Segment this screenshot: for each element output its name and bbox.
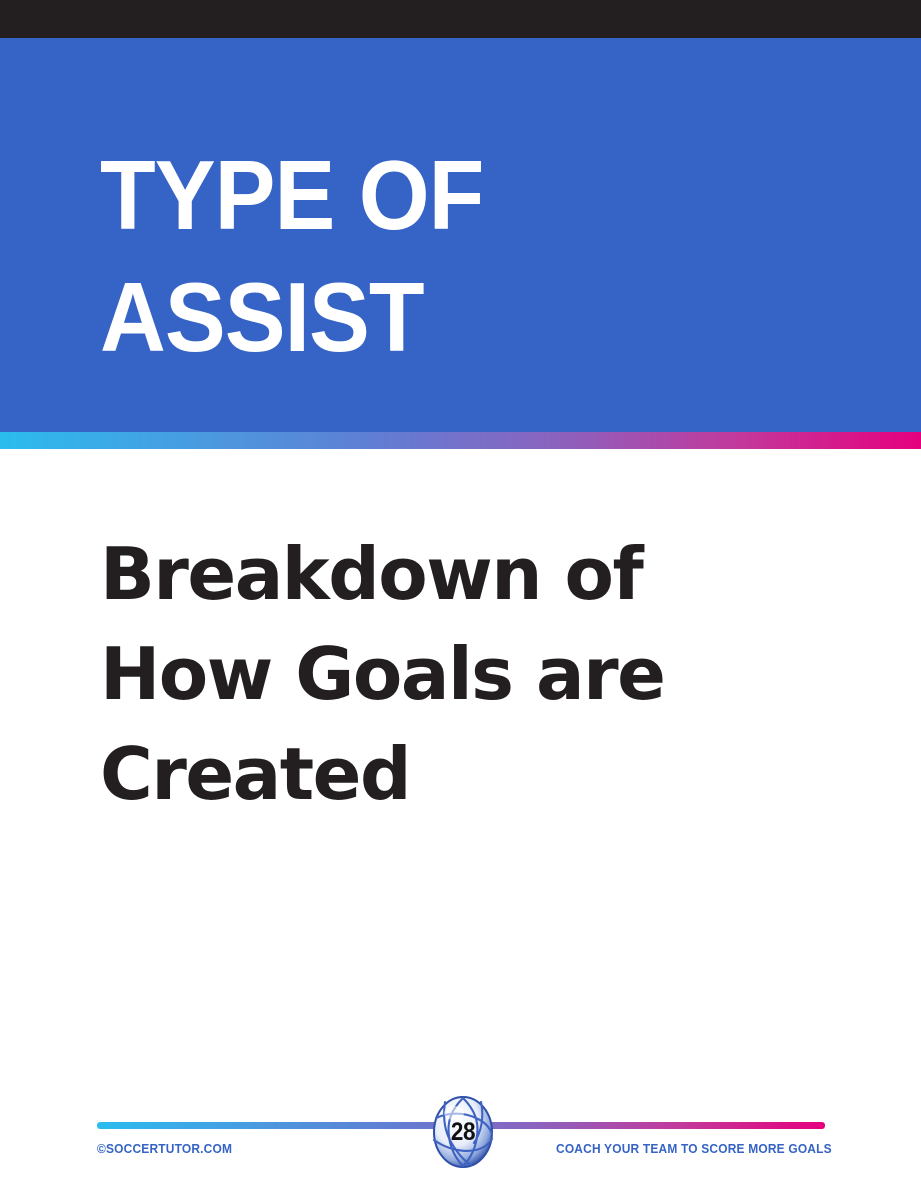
soccer-ball-icon: 28 [431,1096,495,1168]
page-number: 28 [434,1096,492,1168]
hero-gradient-divider [0,432,921,449]
page-footer: ©SOCCERTUTOR.COM COACH YOUR TEAM TO SCOR… [0,1089,921,1200]
footer-tagline: COACH YOUR TEAM TO SCORE MORE GOALS [556,1141,832,1156]
page-heading: Breakdown of How Goals are Created [100,524,780,824]
hero-panel: TYPE OF ASSIST [0,38,921,432]
top-dark-bar [0,0,921,38]
section-title: TYPE OF ASSIST [100,134,483,378]
footer-copyright: ©SOCCERTUTOR.COM [97,1141,232,1156]
main-content-area: Breakdown of How Goals are Created [0,449,921,1089]
